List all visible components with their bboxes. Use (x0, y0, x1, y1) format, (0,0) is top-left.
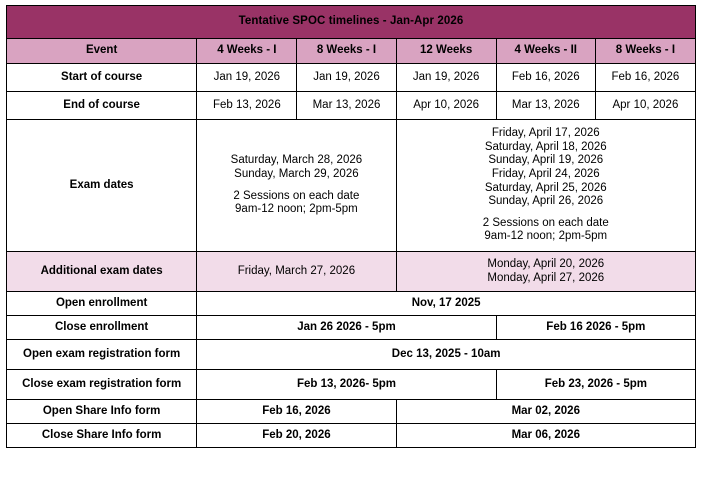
cell-close-exam-registration-left: Feb 13, 2026- 5pm (197, 370, 496, 400)
table-row: Open exam registration form Dec 13, 2025… (7, 340, 696, 370)
exam-date-line: Sunday, April 19, 2026 (401, 154, 691, 168)
row-label-start-of-course: Start of course (7, 64, 197, 92)
exam-date-line: Sunday, March 29, 2026 (201, 168, 391, 182)
exam-date-line: Saturday, April 18, 2026 (401, 141, 691, 155)
row-label-end-of-course: End of course (7, 92, 197, 120)
cell-close-share-info-left: Feb 20, 2026 (197, 424, 396, 448)
column-header-12weeks: 12 Weeks (396, 39, 496, 64)
spacer (201, 182, 391, 190)
row-label-exam-dates: Exam dates (7, 120, 197, 252)
table-title-row: Tentative SPOC timelines - Jan-Apr 2026 (7, 6, 696, 39)
table-row: Open enrollment Nov, 17 2025 (7, 292, 696, 316)
cell-start-12weeks: Jan 19, 2026 (396, 64, 496, 92)
cell-close-exam-registration-right: Feb 23, 2026 - 5pm (496, 370, 695, 400)
table-row: End of course Feb 13, 2026 Mar 13, 2026 … (7, 92, 696, 120)
table-row: Start of course Jan 19, 2026 Jan 19, 202… (7, 64, 696, 92)
spoc-timelines-table: Tentative SPOC timelines - Jan-Apr 2026 … (6, 5, 696, 448)
cell-open-enrollment-value: Nov, 17 2025 (197, 292, 696, 316)
cell-end-8weeks-1: Mar 13, 2026 (297, 92, 396, 120)
row-label-close-exam-registration: Close exam registration form (7, 370, 197, 400)
row-label-open-exam-registration: Open exam registration form (7, 340, 197, 370)
exam-session-line: 9am-12 noon; 2pm-5pm (401, 230, 691, 244)
table-row: Close exam registration form Feb 13, 202… (7, 370, 696, 400)
row-label-open-share-info: Open Share Info form (7, 400, 197, 424)
cell-end-12weeks: Apr 10, 2026 (396, 92, 496, 120)
exam-date-line: Friday, April 17, 2026 (401, 127, 691, 141)
additional-exam-line: Monday, April 27, 2026 (401, 272, 691, 286)
additional-exam-line: Monday, April 20, 2026 (401, 258, 691, 272)
cell-end-4weeks-2: Mar 13, 2026 (496, 92, 595, 120)
cell-open-exam-registration-value: Dec 13, 2025 - 10am (197, 340, 696, 370)
column-header-4weeks-1: 4 Weeks - I (197, 39, 297, 64)
spreadsheet-canvas: Tentative SPOC timelines - Jan-Apr 2026 … (0, 5, 704, 498)
cell-end-8weeks-2: Apr 10, 2026 (595, 92, 695, 120)
spacer (401, 209, 691, 217)
column-header-8weeks-2: 8 Weeks - I (595, 39, 695, 64)
cell-close-enrollment-right: Feb 16 2026 - 5pm (496, 316, 695, 340)
column-header-4weeks-2: 4 Weeks - II (496, 39, 595, 64)
exam-session-line: 2 Sessions on each date (201, 190, 391, 204)
exam-date-line: Saturday, March 28, 2026 (201, 154, 391, 168)
exam-session-line: 9am-12 noon; 2pm-5pm (201, 203, 391, 217)
row-label-close-share-info: Close Share Info form (7, 424, 197, 448)
table-header-row: Event 4 Weeks - I 8 Weeks - I 12 Weeks 4… (7, 39, 696, 64)
cell-close-share-info-right: Mar 06, 2026 (396, 424, 695, 448)
cell-additional-exam-right: Monday, April 20, 2026 Monday, April 27,… (396, 252, 695, 292)
cell-start-8weeks-1: Jan 19, 2026 (297, 64, 396, 92)
table-row: Exam dates Saturday, March 28, 2026 Sund… (7, 120, 696, 252)
column-header-8weeks-1: 8 Weeks - I (297, 39, 396, 64)
cell-additional-exam-left: Friday, March 27, 2026 (197, 252, 396, 292)
cell-start-8weeks-2: Feb 16, 2026 (595, 64, 695, 92)
table-row: Open Share Info form Feb 16, 2026 Mar 02… (7, 400, 696, 424)
cell-exam-dates-right: Friday, April 17, 2026 Saturday, April 1… (396, 120, 695, 252)
cell-open-share-info-left: Feb 16, 2026 (197, 400, 396, 424)
column-header-event: Event (7, 39, 197, 64)
cell-start-4weeks-2: Feb 16, 2026 (496, 64, 595, 92)
page-title: Tentative SPOC timelines - Jan-Apr 2026 (7, 6, 696, 39)
exam-date-line: Friday, April 24, 2026 (401, 168, 691, 182)
table-row: Close enrollment Jan 26 2026 - 5pm Feb 1… (7, 316, 696, 340)
cell-close-enrollment-left: Jan 26 2026 - 5pm (197, 316, 496, 340)
cell-open-share-info-right: Mar 02, 2026 (396, 400, 695, 424)
table-row: Close Share Info form Feb 20, 2026 Mar 0… (7, 424, 696, 448)
exam-date-line: Saturday, April 25, 2026 (401, 182, 691, 196)
cell-start-4weeks-1: Jan 19, 2026 (197, 64, 297, 92)
cell-end-4weeks-1: Feb 13, 2026 (197, 92, 297, 120)
exam-session-line: 2 Sessions on each date (401, 217, 691, 231)
row-label-open-enrollment: Open enrollment (7, 292, 197, 316)
table-row: Additional exam dates Friday, March 27, … (7, 252, 696, 292)
row-label-close-enrollment: Close enrollment (7, 316, 197, 340)
cell-exam-dates-left: Saturday, March 28, 2026 Sunday, March 2… (197, 120, 396, 252)
exam-date-line: Sunday, April 26, 2026 (401, 195, 691, 209)
row-label-additional-exam-dates: Additional exam dates (7, 252, 197, 292)
